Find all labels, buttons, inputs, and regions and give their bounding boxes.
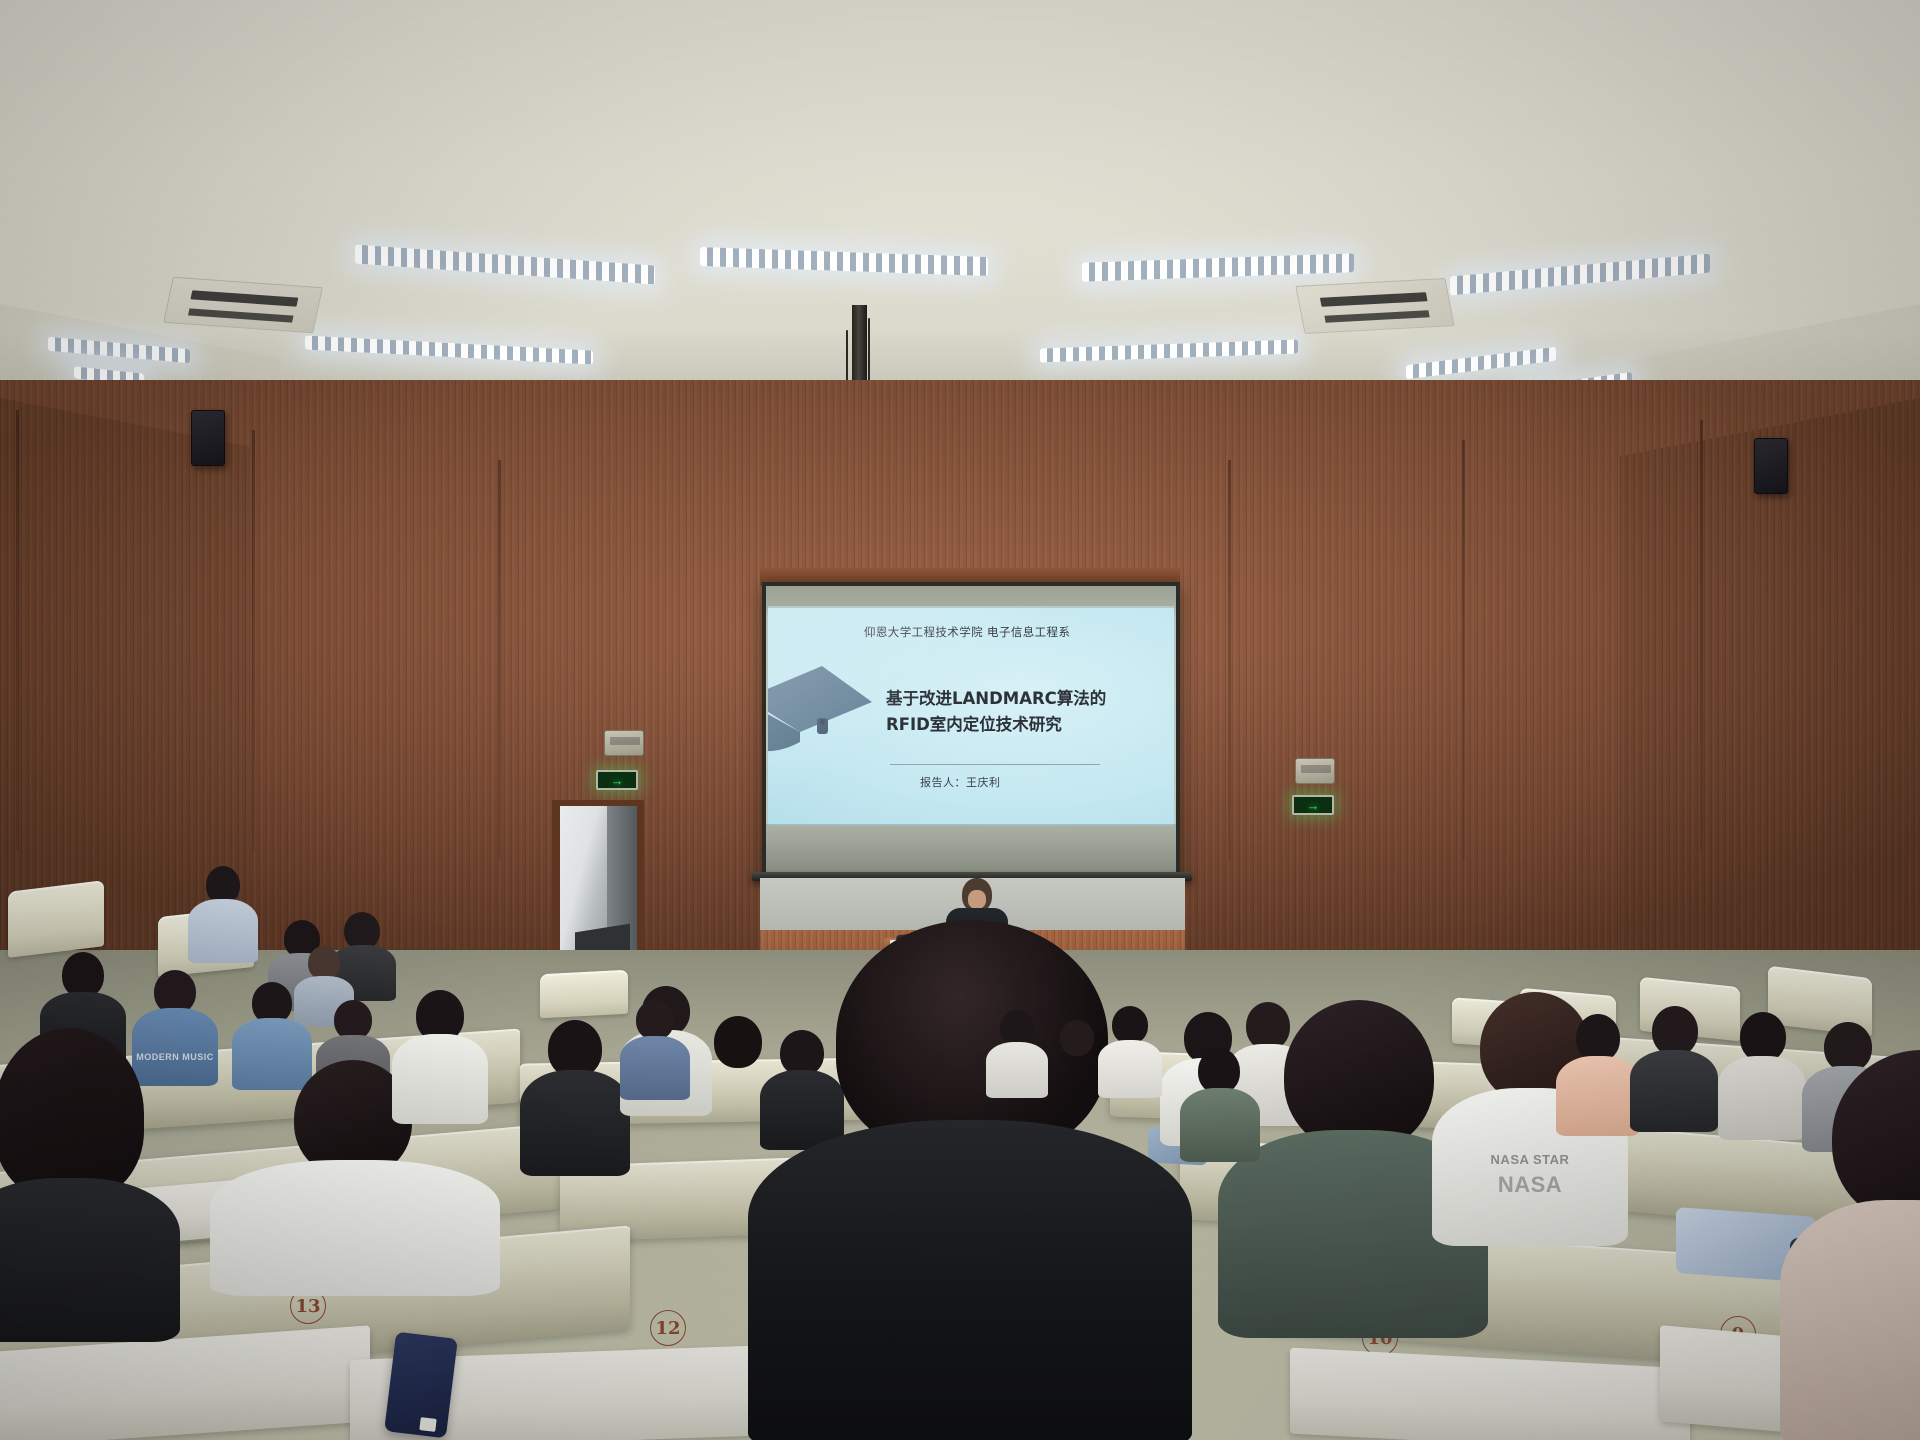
wall-equipment-box [604,730,644,756]
audience-member [188,866,258,962]
wall-panel-seam [498,460,501,860]
wall-mounted-speaker [1754,438,1788,494]
person-head [1112,1006,1148,1044]
person-head [1576,1014,1620,1062]
person-torso [1630,1050,1718,1132]
emergency-exit-sign-left: → [596,770,638,790]
wall-panel-seam [252,430,255,850]
person-head [308,946,340,980]
slide-department-header: 仰恩大学工程技术学院 电子信息工程系 [864,624,1070,640]
slide-divider-rule [890,764,1100,765]
person-torso [210,1160,500,1296]
slide-title: 基于改进LANDMARC算法的 RFID室内定位技术研究 [886,686,1154,737]
person-torso [1780,1200,1920,1440]
person-torso [0,1178,180,1342]
wall-panel-seam [1462,440,1465,860]
wall-panel-seam [1228,460,1231,860]
person-torso [188,899,258,963]
person-head [334,1000,372,1040]
person-head [1652,1006,1698,1056]
person-torso [1180,1088,1260,1162]
seat-back[interactable] [8,880,104,958]
audience-member-foreground-left [0,1028,180,1328]
lecture-hall-photo: → → 仰恩大学工程技术学院 电子信息工程系 基于改进LANDMARC算法的 R… [0,0,1920,1440]
wall-panel-seam [1700,420,1703,850]
person-torso [986,1042,1048,1098]
audience-member [620,1000,690,1096]
audience-member [1630,1006,1718,1128]
slide-title-line-1: 基于改进LANDMARC算法的 [886,686,1154,712]
person-torso [1556,1056,1640,1136]
exit-running-person-icon: → [1307,799,1320,812]
shirt-text-line-1: NASA STAR [1432,1152,1628,1167]
emergency-exit-sign-right: → [1292,795,1334,815]
audience-member [1556,1014,1640,1132]
slide-title-line-2: RFID室内定位技术研究 [886,712,1154,738]
screen-top-margin [766,586,1176,608]
slide-presenter-name: 报告人：王庆利 [920,774,1001,790]
audience-member [986,1010,1048,1094]
person-torso [620,1036,690,1100]
person-head [1000,1010,1034,1046]
audience-member-foreground-center [770,920,1170,1440]
presentation-slide: 仰恩大学工程技术学院 电子信息工程系 基于改进LANDMARC算法的 RFID室… [768,606,1174,826]
wall-mounted-speaker [191,410,225,466]
wall-equipment-box [1295,758,1335,784]
audience-member [1180,1048,1260,1158]
audience-member [520,1020,630,1172]
person-head [0,1028,144,1200]
presenter-face [968,890,986,909]
person-torso [1098,1040,1162,1098]
person-head [1060,1020,1094,1056]
ceiling-air-vent [1295,278,1454,334]
audience-member-foreground-far-right [1770,1050,1920,1440]
person-head [714,1016,762,1068]
charging-cable-connector [419,1417,436,1432]
seat-back[interactable] [540,970,628,1019]
audience-member [1098,1006,1162,1094]
wall-panel-seam [16,410,19,850]
exit-running-person-icon: → [611,774,624,787]
person-head [636,1000,674,1040]
shirt-text-line-2: NASA [1432,1172,1628,1198]
person-torso [392,1034,488,1124]
seat-number-12: 12 [650,1310,686,1346]
screen-bottom-margin [766,824,1176,874]
graduation-cap-graphic [768,658,872,762]
audience-member [392,990,488,1120]
person-torso [748,1120,1192,1440]
person-torso [520,1070,630,1176]
